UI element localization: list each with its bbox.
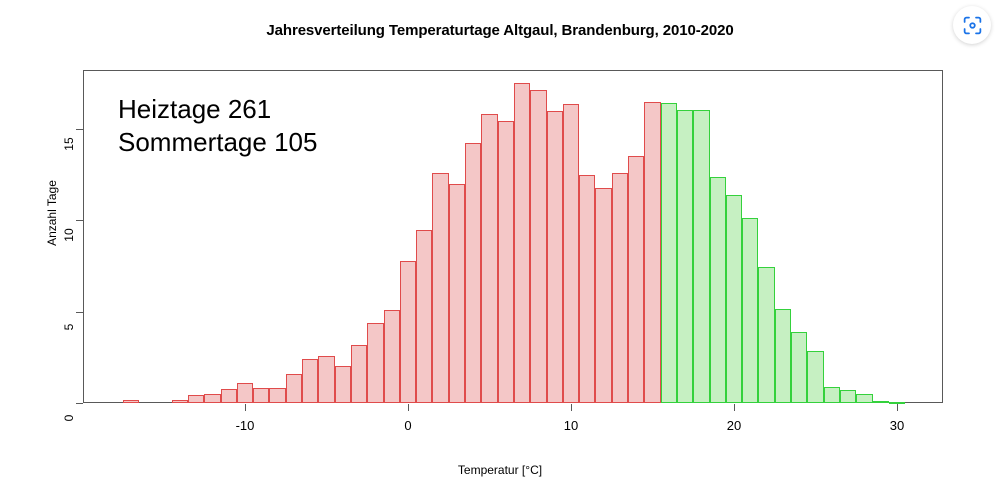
annotation-block: Heiztage 261 Sommertage 105 <box>118 93 317 159</box>
y-axis-tick-label: 5 <box>62 311 76 343</box>
chart-page: Jahresverteilung Temperaturtage Altgaul,… <box>0 0 1000 498</box>
annotation-sommertage: Sommertage 105 <box>118 126 317 159</box>
x-axis-tick-label: -10 <box>215 418 275 433</box>
x-axis-tick <box>245 404 246 411</box>
y-axis-tick-label: 0 <box>62 402 76 434</box>
x-axis-label: Temperatur [°C] <box>0 463 1000 477</box>
x-axis-tick <box>408 404 409 411</box>
y-axis-tick-label: 10 <box>62 219 76 251</box>
x-axis-tick-label: 30 <box>867 418 927 433</box>
y-axis-tick <box>76 129 83 130</box>
y-axis-tick <box>76 403 83 404</box>
scan-focus-button[interactable] <box>953 6 991 44</box>
y-axis-tick-label: 15 <box>62 128 76 160</box>
y-axis-tick <box>76 312 83 313</box>
x-axis-tick <box>734 404 735 411</box>
scan-focus-icon <box>962 15 983 36</box>
x-axis-tick-label: 0 <box>378 418 438 433</box>
x-axis-tick-label: 20 <box>704 418 764 433</box>
x-axis-tick <box>571 404 572 411</box>
y-axis-tick <box>76 220 83 221</box>
page-title: Jahresverteilung Temperaturtage Altgaul,… <box>0 22 1000 39</box>
x-axis-tick-label: 10 <box>541 418 601 433</box>
annotation-heiztage: Heiztage 261 <box>118 93 317 126</box>
y-axis-label: Anzahl Tage <box>45 153 59 273</box>
x-axis-tick <box>897 404 898 411</box>
